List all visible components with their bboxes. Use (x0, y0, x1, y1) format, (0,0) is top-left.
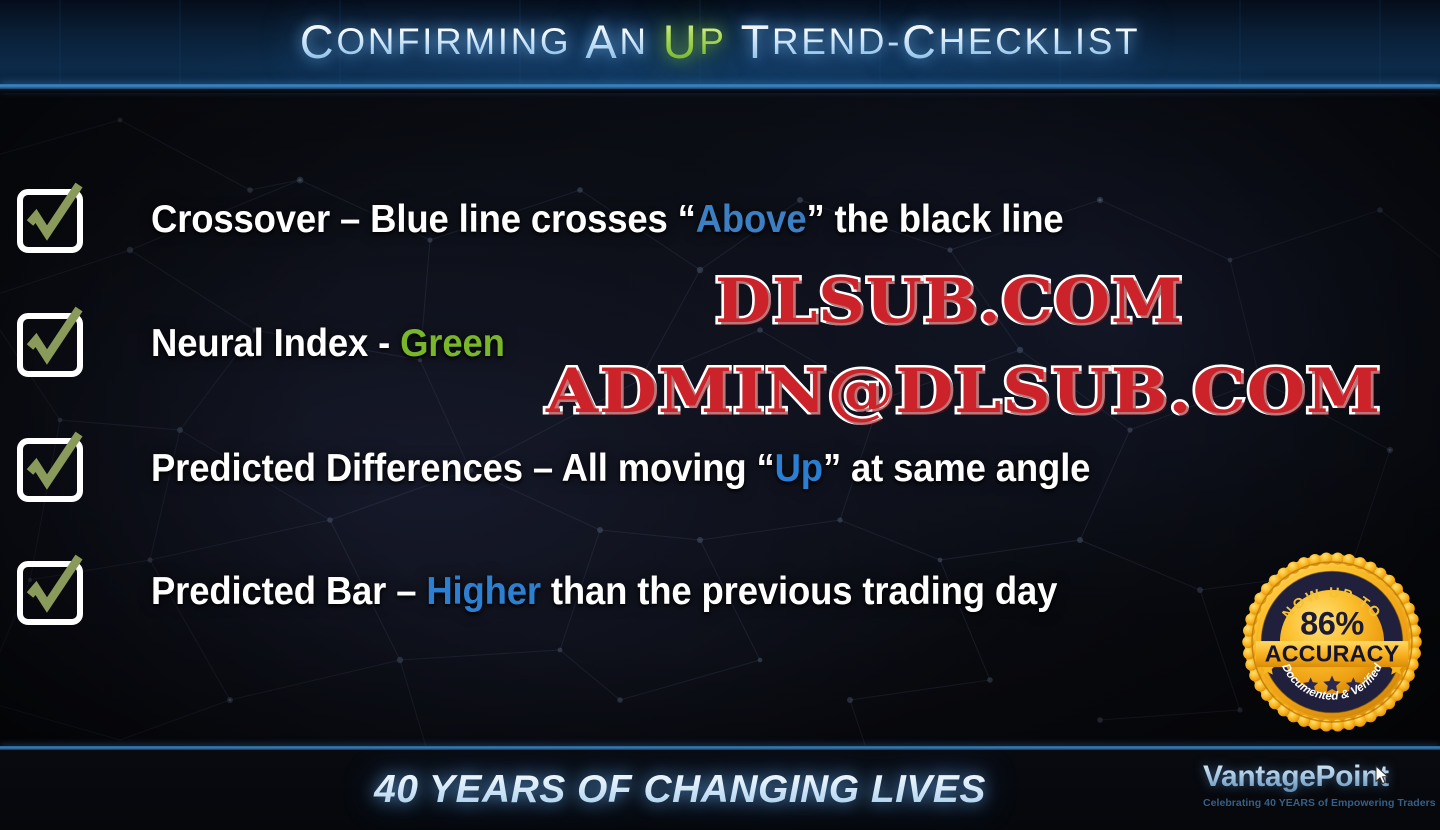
checkbox-svg (13, 428, 93, 508)
label-segment-1: Up (775, 447, 823, 490)
checklist-item[interactable]: Predicted Differences – All moving “Up” … (0, 431, 1440, 507)
label-segment-1: Above (696, 198, 807, 241)
logo-tagline: Celebrating 40 YEARS of Empowering Trade… (1203, 797, 1431, 809)
checklist-item[interactable]: Neural Index - Green (0, 306, 1440, 382)
page-title: CONFIRMINGANUPTREND - CHECKLIST (0, 0, 1440, 86)
vantagepoint-logo[interactable]: VantagePoint Celebrating 40 YEARS of Emp… (1203, 762, 1431, 818)
title-part-3: A (585, 18, 619, 65)
title-part-7: P (699, 23, 726, 60)
checkbox-checked-icon[interactable] (19, 438, 81, 500)
badge-accuracy-text: ACCURACY (1265, 641, 1400, 667)
checklist-item[interactable]: Crossover – Blue line crosses “Above” th… (0, 182, 1440, 258)
checklist-item-label: Neural Index - Green (151, 322, 505, 366)
checklist: Crossover – Blue line crosses “Above” th… (0, 93, 1440, 748)
label-segment-0: Neural Index - (151, 322, 400, 365)
checklist-item-label: Predicted Bar – Higher than the previous… (151, 570, 1057, 614)
label-segment-0: Crossover – Blue line crosses “ (151, 198, 696, 241)
title-part-6: U (663, 18, 700, 65)
header-band: CONFIRMINGANUPTREND - CHECKLIST (0, 0, 1440, 86)
badge-percent-text: 86% (1300, 606, 1364, 642)
title-part-10: REND (772, 23, 887, 60)
label-segment-2: than the previous trading day (541, 570, 1057, 613)
label-segment-1: Green (400, 322, 505, 365)
checkbox-checked-icon[interactable] (19, 561, 81, 623)
logo-wordmark: VantagePoint (1203, 762, 1431, 792)
title-part-13: HECKLIST (939, 23, 1141, 60)
accuracy-badge-svg: NOW UP TO 86% ACCURACY Documented & Veri… (1239, 549, 1425, 735)
checkbox-checked-icon[interactable] (19, 189, 81, 251)
checklist-item-label: Predicted Differences – All moving “Up” … (151, 447, 1090, 491)
title-part-12: C (902, 18, 939, 65)
mouse-cursor-icon (1375, 765, 1391, 787)
checklist-item[interactable]: Predicted Bar – Higher than the previous… (0, 554, 1440, 630)
label-segment-0: Predicted Differences – All moving “ (151, 447, 775, 490)
accuracy-badge: NOW UP TO 86% ACCURACY Documented & Veri… (1239, 549, 1425, 735)
checkbox-svg (13, 551, 93, 631)
title-part-0: C (300, 18, 337, 65)
label-segment-0: Predicted Bar – (151, 570, 426, 613)
label-segment-2: ” at same angle (823, 447, 1090, 490)
slide-root: CONFIRMINGANUPTREND - CHECKLIST Crossove… (0, 0, 1440, 830)
checkbox-checked-icon[interactable] (19, 313, 81, 375)
label-segment-1: Higher (426, 570, 541, 613)
title-part-9: T (741, 18, 772, 65)
title-part-4: N (619, 23, 648, 60)
title-part-1: ONFIRMING (336, 23, 571, 60)
label-segment-2: ” the black line (806, 198, 1063, 241)
title-part-11: - (887, 23, 902, 60)
checklist-item-label: Crossover – Blue line crosses “Above” th… (151, 198, 1064, 242)
checkbox-svg (13, 303, 93, 383)
checkbox-svg (13, 179, 93, 259)
